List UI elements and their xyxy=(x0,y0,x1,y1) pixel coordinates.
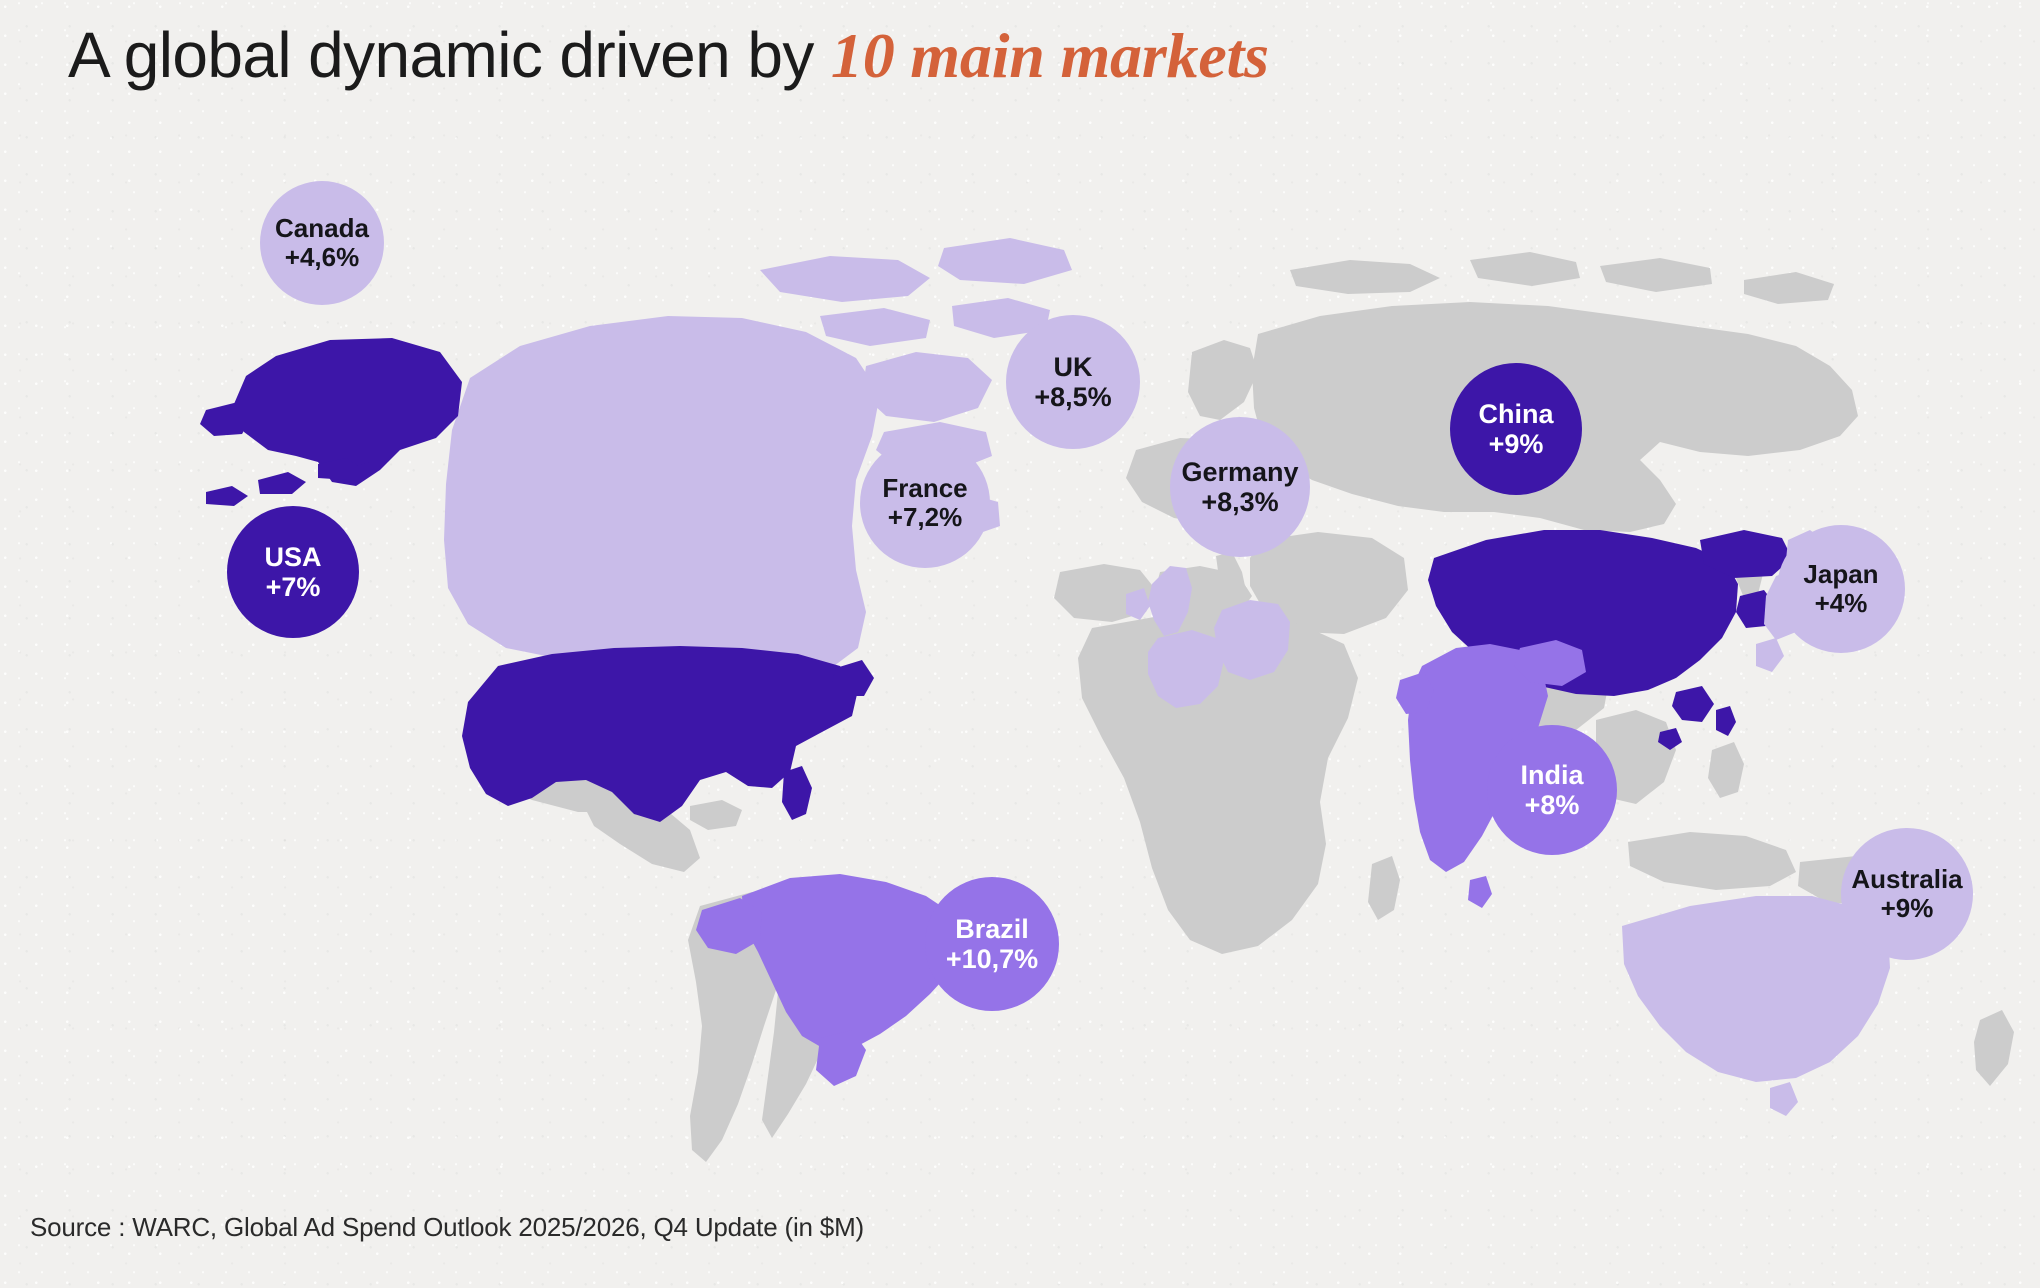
market-bubble-name: Japan xyxy=(1803,560,1878,589)
market-bubble-name: USA xyxy=(264,542,321,572)
page-title-accent: 10 main markets xyxy=(831,20,1269,91)
market-bubble-value: +9% xyxy=(1489,429,1544,459)
market-bubble-value: +8,5% xyxy=(1034,382,1111,412)
market-bubble-name: Brazil xyxy=(955,914,1029,944)
market-bubble-value: +7,2% xyxy=(888,503,962,532)
slide-root: A global dynamic driven by 10 main marke… xyxy=(0,0,2040,1288)
market-bubble-china[interactable]: China+9% xyxy=(1450,363,1582,495)
market-bubble-value: +8,3% xyxy=(1201,487,1278,517)
market-bubble-value: +7% xyxy=(266,572,321,602)
market-bubble-japan[interactable]: Japan+4% xyxy=(1777,525,1905,653)
market-bubble-value: +4% xyxy=(1815,589,1868,618)
market-bubble-uk[interactable]: UK+8,5% xyxy=(1006,315,1140,449)
market-bubble-value: +9% xyxy=(1881,894,1934,923)
page-title-main: A global dynamic driven by xyxy=(68,19,831,91)
market-bubble-australia[interactable]: Australia+9% xyxy=(1841,828,1973,960)
market-bubble-name: Germany xyxy=(1181,457,1298,487)
market-bubble-value: +8% xyxy=(1525,790,1580,820)
market-bubble-germany[interactable]: Germany+8,3% xyxy=(1170,417,1310,557)
page-title: A global dynamic driven by 10 main marke… xyxy=(68,18,1269,93)
market-bubble-name: India xyxy=(1520,760,1583,790)
market-bubble-value: +4,6% xyxy=(285,243,359,272)
source-note: Source : WARC, Global Ad Spend Outlook 2… xyxy=(30,1212,864,1243)
market-bubble-brazil[interactable]: Brazil+10,7% xyxy=(925,877,1059,1011)
market-bubble-name: China xyxy=(1478,399,1553,429)
market-bubble-india[interactable]: India+8% xyxy=(1487,725,1617,855)
market-bubble-name: Canada xyxy=(275,214,369,243)
market-bubble-usa[interactable]: USA+7% xyxy=(227,506,359,638)
market-bubble-name: Australia xyxy=(1851,865,1962,894)
market-bubble-france[interactable]: France+7,2% xyxy=(860,438,990,568)
market-bubble-name: France xyxy=(882,474,967,503)
market-bubble-name: UK xyxy=(1054,352,1093,382)
market-bubble-value: +10,7% xyxy=(946,944,1038,974)
market-bubble-canada[interactable]: Canada+4,6% xyxy=(260,181,384,305)
